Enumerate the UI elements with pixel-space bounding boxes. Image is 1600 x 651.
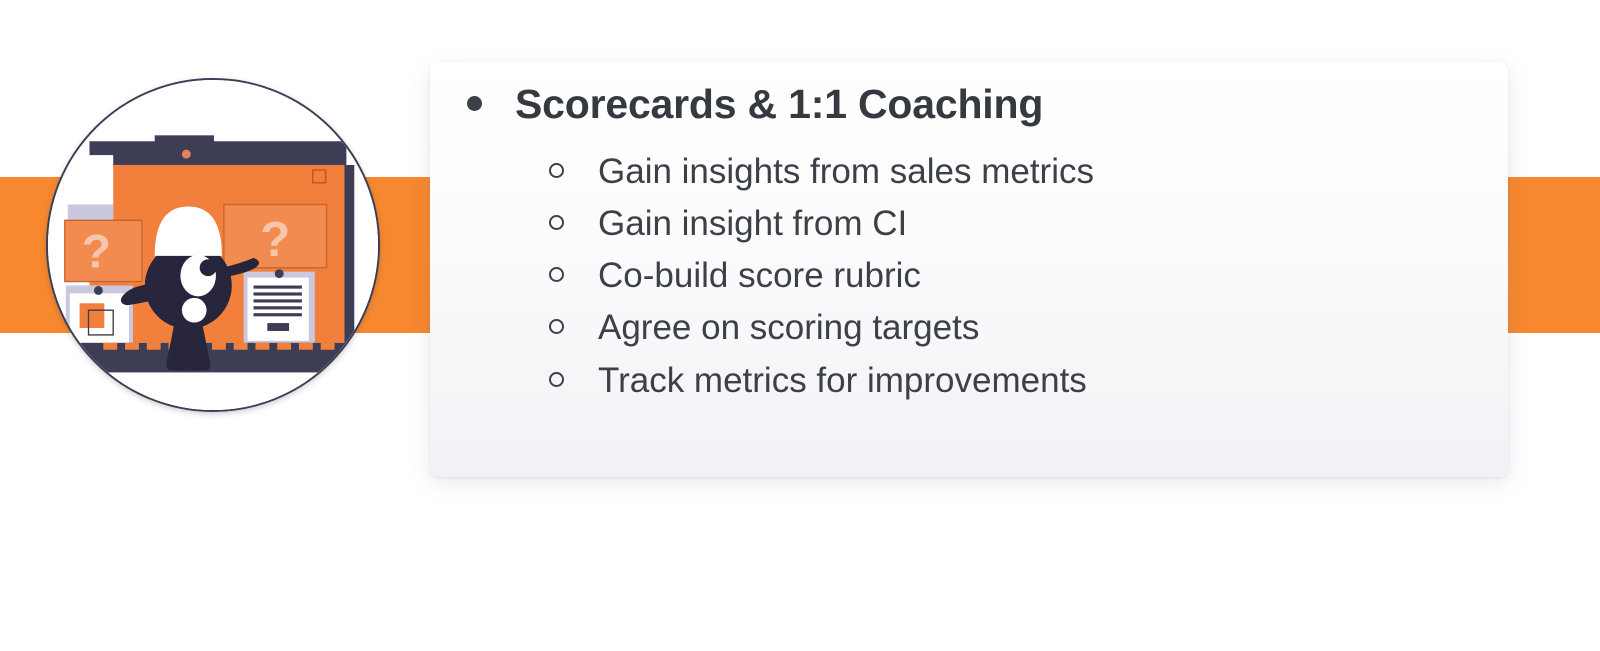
heading-bullet-row: Scorecards & 1:1 Coaching [467, 84, 1043, 125]
list-item-label: Gain insight from CI [598, 206, 907, 241]
hollow-circle-icon [549, 215, 564, 230]
svg-text:?: ? [82, 226, 111, 279]
illustration-graphic: ? ? [48, 80, 378, 410]
page-title: Scorecards & 1:1 Coaching [515, 84, 1043, 125]
filled-circle-icon [467, 96, 482, 111]
hollow-circle-icon [549, 372, 564, 387]
list-item-label: Track metrics for improvements [598, 363, 1087, 398]
list-item: Track metrics for improvements [549, 363, 1087, 398]
list-item-label: Co-build score rubric [598, 258, 921, 293]
list-item: Gain insight from CI [549, 206, 907, 241]
hollow-circle-icon [549, 319, 564, 334]
illustration-circle: ? ? [46, 78, 380, 412]
hollow-circle-icon [549, 267, 564, 282]
list-item: Gain insights from sales metrics [549, 154, 1094, 189]
hollow-circle-icon [549, 163, 564, 178]
svg-text:?: ? [260, 212, 290, 267]
list-item-label: Agree on scoring targets [598, 310, 979, 345]
list-item-label: Gain insights from sales metrics [598, 154, 1094, 189]
list-item: Co-build score rubric [549, 258, 921, 293]
list-item: Agree on scoring targets [549, 310, 979, 345]
